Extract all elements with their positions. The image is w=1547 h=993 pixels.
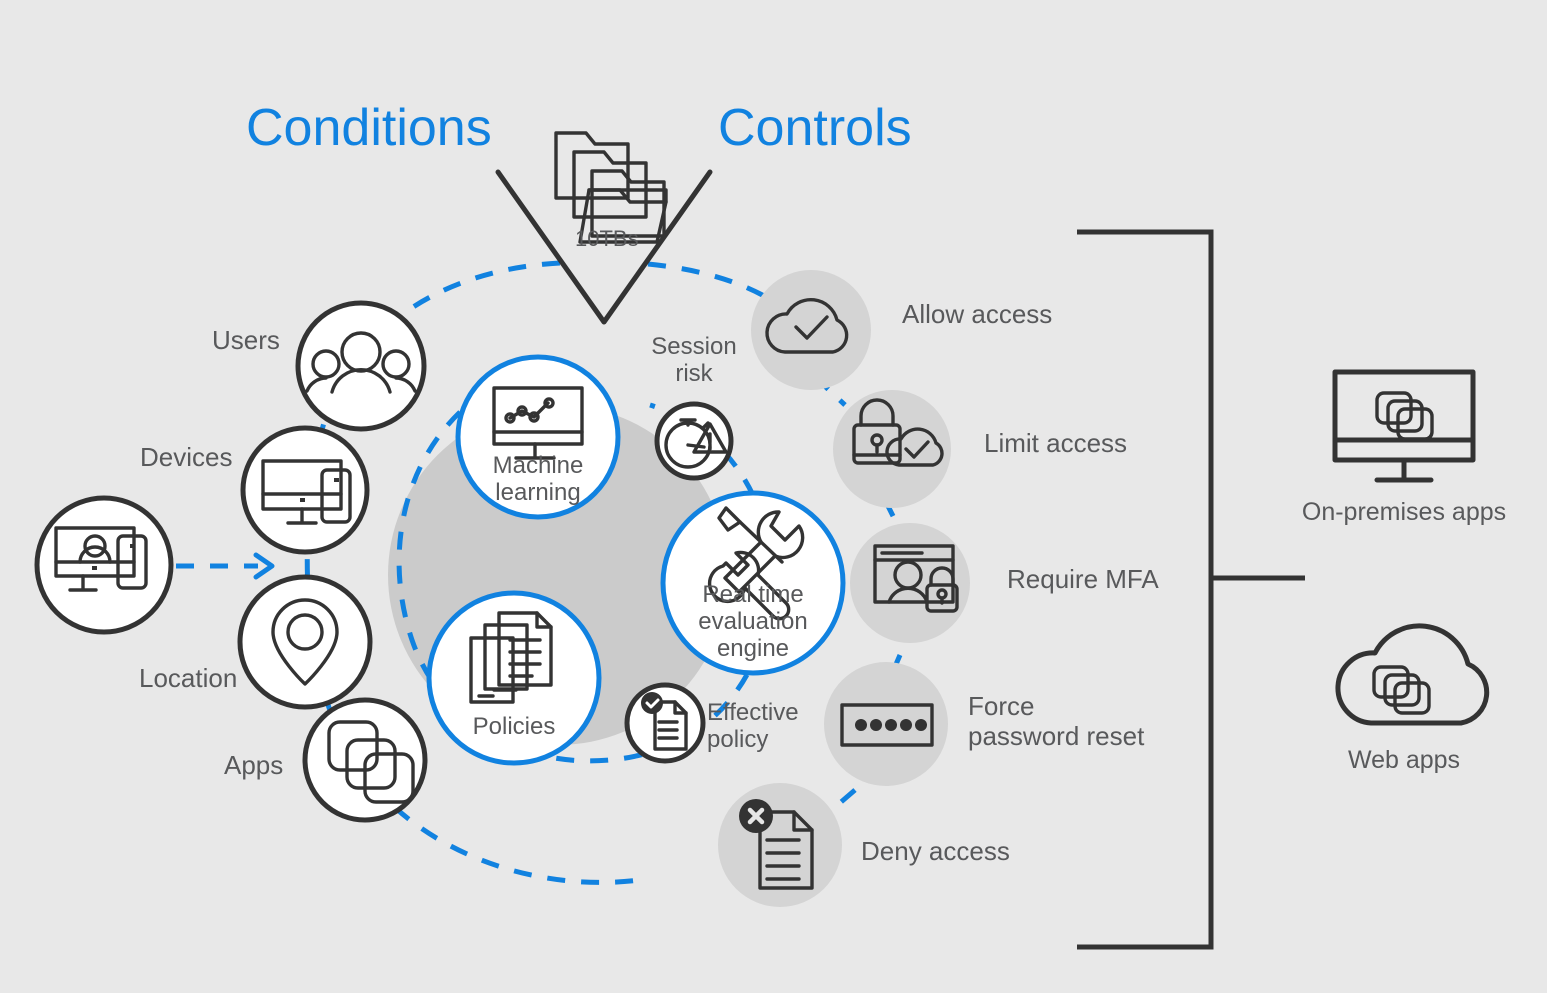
condition-label-apps: Apps <box>224 750 283 780</box>
engine-label-machine-learning: Machine learning <box>458 452 618 506</box>
source-to-conditions-arrow <box>176 555 272 577</box>
monitor-apps-icon <box>1335 372 1473 480</box>
control-label-force-password-reset: Force password reset <box>968 691 1144 751</box>
condition-label-location: Location <box>139 663 237 693</box>
data-volume-label: 10TBs <box>575 226 639 252</box>
engine-label-session-risk: Session risk <box>624 333 764 387</box>
heading-conditions: Conditions <box>246 100 492 156</box>
cloud-apps-icon <box>1338 626 1487 723</box>
control-label-limit-access: Limit access <box>984 428 1127 458</box>
control-disc-allow-access[interactable] <box>751 270 871 390</box>
condition-circle-location[interactable] <box>240 577 370 707</box>
condition-circle-users[interactable] <box>298 303 424 429</box>
diagram-canvas: .s{fill:none;stroke:#333;stroke-width:5;… <box>0 0 1547 993</box>
engine-label-real-time-evaluation: Real time evaluation engine <box>673 581 833 662</box>
condition-label-devices: Devices <box>140 442 232 472</box>
target-label-web-apps: Web apps <box>1254 746 1547 775</box>
control-label-require-mfa: Require MFA <box>1007 564 1159 594</box>
engine-label-effective-policy: Effective policy <box>707 699 857 753</box>
control-label-deny-access: Deny access <box>861 836 1010 866</box>
engine-label-policies: Policies <box>434 713 594 740</box>
condition-label-users: Users <box>212 325 280 355</box>
control-label-allow-access: Allow access <box>902 299 1052 329</box>
heading-controls: Controls <box>718 100 912 156</box>
target-label-on-premises-apps: On-premises apps <box>1254 498 1547 527</box>
